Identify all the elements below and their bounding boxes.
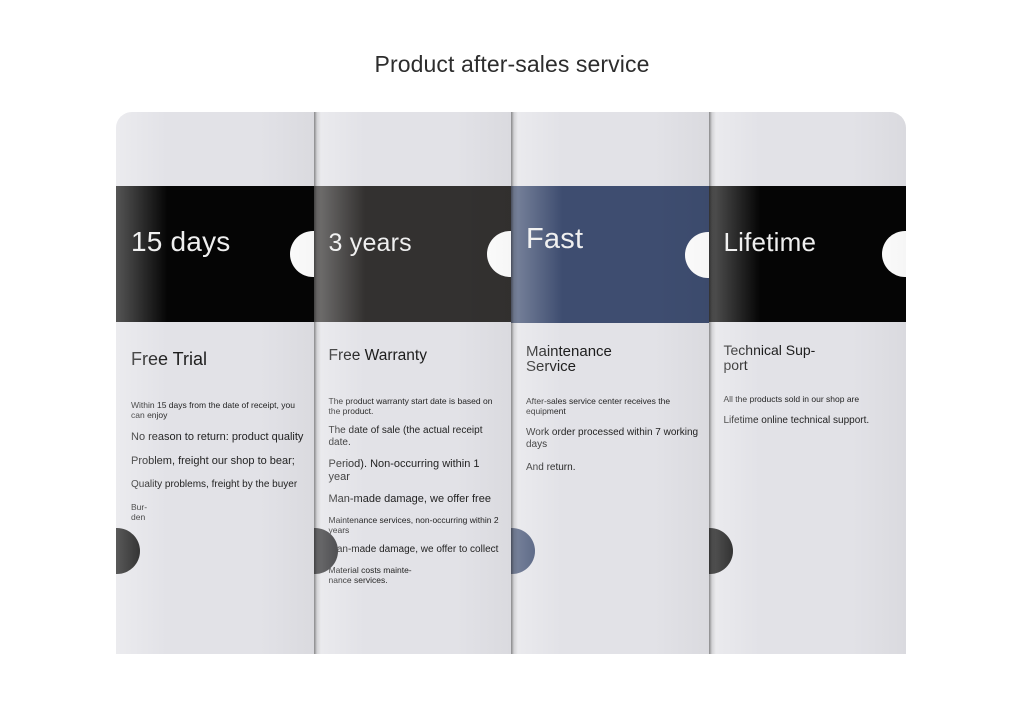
band-notch-circle-icon (487, 231, 511, 277)
panel-heading: MaintenanceService (526, 344, 697, 374)
service-panel-maintenance-service[interactable]: Fast MaintenanceService After-sales serv… (511, 112, 709, 654)
panel-body: MaintenanceService After-sales service c… (511, 322, 709, 654)
panel-band: Lifetime (709, 186, 907, 322)
panel-body: Technical Sup-port All the products sold… (709, 322, 907, 654)
panel-heading: Technical Sup-port (724, 343, 895, 373)
panel-line: Period). Non-occurring within 1 year (329, 458, 502, 484)
panel-line: Lifetime online technical support. (724, 415, 897, 427)
band-notch-circle-icon (685, 232, 709, 278)
panel-line-list: After-sales service center receives the … (526, 396, 699, 474)
service-panel-free-warranty[interactable]: 3 years Free Warranty The product warran… (314, 112, 512, 654)
panel-line: Material costs mainte-nance services. (329, 565, 502, 585)
panel-line-list: The product warranty start date is based… (329, 396, 502, 594)
panel-line: Man-made damage, we offer free (329, 493, 502, 506)
panel-band: 3 years (314, 186, 512, 322)
panel-line: Problem, freight our shop to bear; (131, 455, 304, 468)
panel-line-list: All the products sold in our shop are Li… (724, 394, 897, 427)
panel-line: All the products sold in our shop are (724, 394, 897, 404)
panel-heading: Free Trial (131, 352, 302, 367)
band-label: Fast (526, 222, 583, 256)
panel-line: The product warranty start date is based… (329, 396, 502, 416)
panel-band: Fast (511, 186, 709, 323)
panel-line: Quality problems, freight by the buyer (131, 479, 304, 491)
panel-body: Free Warranty The product warranty start… (314, 322, 512, 654)
panel-line: Man-made damage, we offer to collect (329, 544, 502, 556)
panel-line: Bur-den (131, 502, 304, 522)
band-notch-circle-icon (882, 231, 906, 277)
panel-band: 15 days (116, 186, 314, 322)
band-label: 15 days (131, 225, 230, 259)
page-title: Product after-sales service (0, 48, 1024, 80)
panel-line: The date of sale (the actual receipt dat… (329, 425, 502, 449)
band-notch-circle-icon (290, 231, 314, 277)
service-panel-group: 15 days Free Trial Within 15 days from t… (116, 112, 906, 654)
panel-line: Work order processed within 7 working da… (526, 427, 699, 451)
panel-line: No reason to return: product quality (131, 431, 304, 444)
panel-line: And return. (526, 462, 699, 474)
band-label: 3 years (329, 226, 412, 260)
panel-line: Maintenance services, non-occurring with… (329, 515, 502, 535)
service-panel-technical-support[interactable]: Lifetime Technical Sup-port All the prod… (709, 112, 907, 654)
panel-heading: Free Warranty (329, 348, 500, 363)
service-panel-free-trial[interactable]: 15 days Free Trial Within 15 days from t… (116, 112, 314, 654)
band-label: Lifetime (724, 225, 817, 259)
panel-line-list: Within 15 days from the date of receipt,… (131, 400, 304, 522)
panel-body: Free Trial Within 15 days from the date … (116, 322, 314, 654)
panel-line: Within 15 days from the date of receipt,… (131, 400, 304, 420)
panel-line: After-sales service center receives the … (526, 396, 699, 416)
